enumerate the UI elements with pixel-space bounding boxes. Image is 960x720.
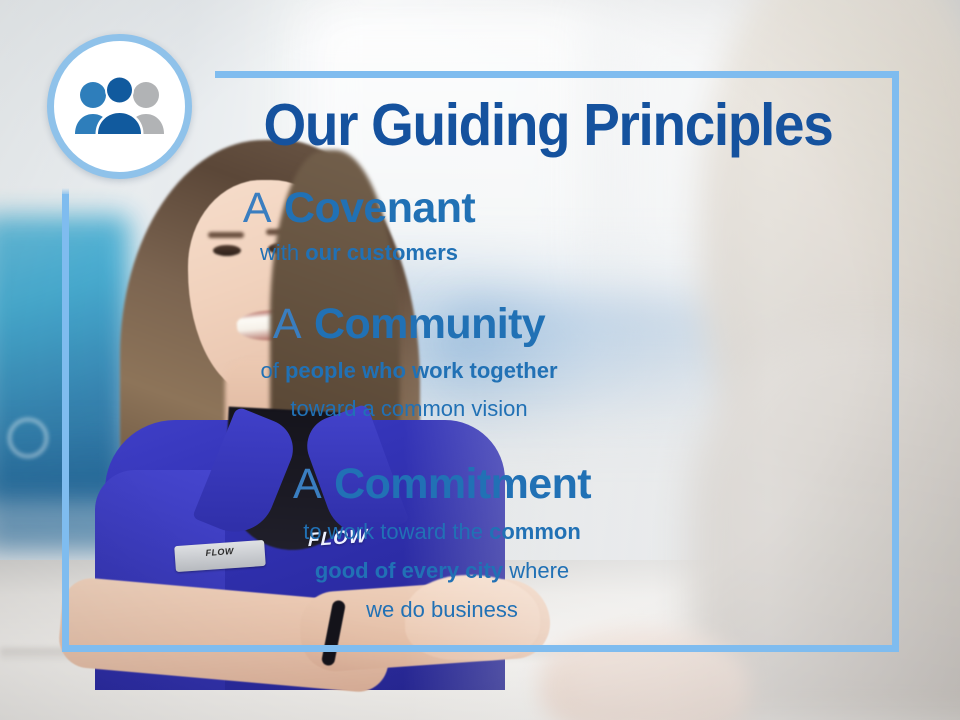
principle-covenant-headline: A Covenant [0,186,718,231]
banner-image: FLOW FLOW [0,0,960,720]
frame-border-bottom [62,645,899,652]
principle-commitment-line-1: to work toward the common [0,518,884,546]
principle-covenant: A Covenant with our customers [0,186,718,267]
text-emphasis: people who work together [285,358,558,383]
principle-commitment-headline: A Commitment [0,462,884,507]
text-plain: we do business [366,597,518,622]
group-of-people-icon [47,34,192,179]
text-plain: toward a common vision [290,396,527,421]
vw-roundel-icon [8,418,48,458]
text-plain: to work toward the [303,519,489,544]
principle-commitment: A Commitment to work toward the common g… [0,462,884,625]
principle-keyword: Community [314,300,545,348]
text-emphasis: common [489,519,581,544]
principle-commitment-line-2: good of every city where [0,557,884,585]
text-plain-after: where [503,558,569,583]
page-title: Our Guiding Principles [241,96,855,155]
principle-community-headline: A Community [0,302,818,347]
principle-article: A [273,300,302,348]
principle-keyword: Commitment [334,460,591,508]
principle-article: A [243,184,272,232]
text-emphasis: good of every city [315,558,503,583]
principle-article: A [293,460,322,508]
frame-border-top [215,71,899,78]
principle-community-line-2: toward a common vision [0,395,818,423]
principle-community: A Community of people who work together … [0,302,818,423]
text-plain: with [260,240,305,265]
principle-community-line-1: of people who work together [0,357,818,385]
principle-commitment-line-3: we do business [0,596,884,624]
principle-covenant-line-1: with our customers [0,239,718,267]
text-emphasis: our customers [305,240,458,265]
frame-border-right [892,71,899,652]
text-plain: of [260,358,284,383]
principle-keyword: Covenant [284,184,475,232]
